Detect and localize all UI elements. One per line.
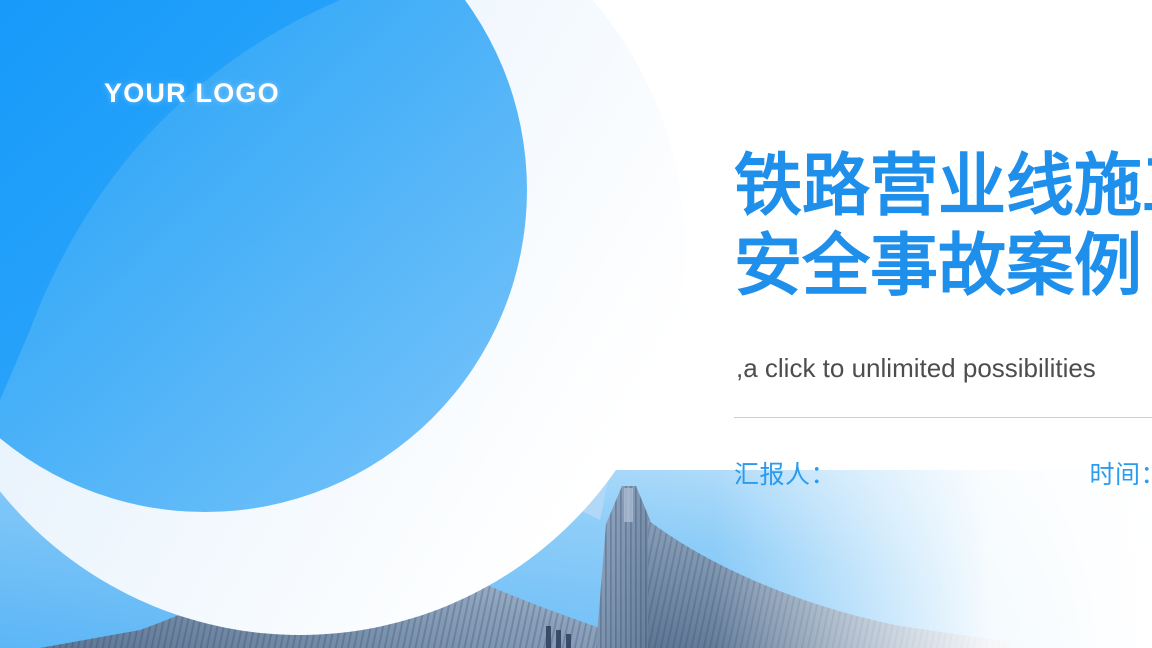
date-label: 时间：: [1089, 455, 1152, 491]
logo-text: YOUR LOGO: [104, 78, 280, 109]
meta-row: 汇报人： 时间：: [734, 455, 1152, 491]
presentation-slide: YOUR LOGO 铁路营业线施工安全事故案例 ,a click to unli…: [0, 0, 1152, 648]
presenter-label: 汇报人：: [734, 455, 836, 491]
subtitle-tagline: ,a click to unlimited possibilities: [736, 350, 1096, 386]
page-title: 铁路营业线施工安全事故案例: [734, 146, 1152, 306]
title-block: 铁路营业线施工安全事故案例 ,a click to unlimited poss…: [734, 0, 1152, 648]
divider-line: [734, 417, 1152, 418]
